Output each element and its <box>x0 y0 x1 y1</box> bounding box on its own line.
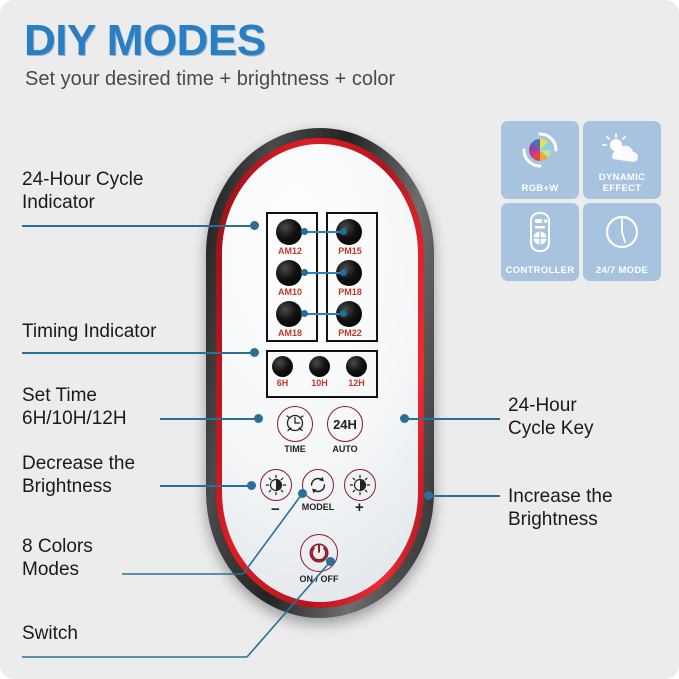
callout-cycle-key: 24-Hour Cycle Key <box>508 394 594 440</box>
infographic-canvas: DIY MODES Set your desired time + bright… <box>0 0 679 679</box>
callout-cycle-key-l1: 24-Hour <box>508 394 594 417</box>
leader-dot-switch <box>326 557 335 566</box>
leader-dot-increase-brightness <box>424 491 433 500</box>
leader-dot-cycle-key <box>400 414 409 423</box>
callout-cycle-key-l2: Cycle Key <box>508 417 594 440</box>
callout-increase-brightness: Increase the Brightness <box>508 485 613 531</box>
leader-switch <box>0 0 679 679</box>
leader-increase-brightness <box>428 495 500 497</box>
callout-increase-brightness-l2: Brightness <box>508 508 613 531</box>
leader-cycle-key <box>404 418 500 420</box>
callout-increase-brightness-l1: Increase the <box>508 485 613 508</box>
